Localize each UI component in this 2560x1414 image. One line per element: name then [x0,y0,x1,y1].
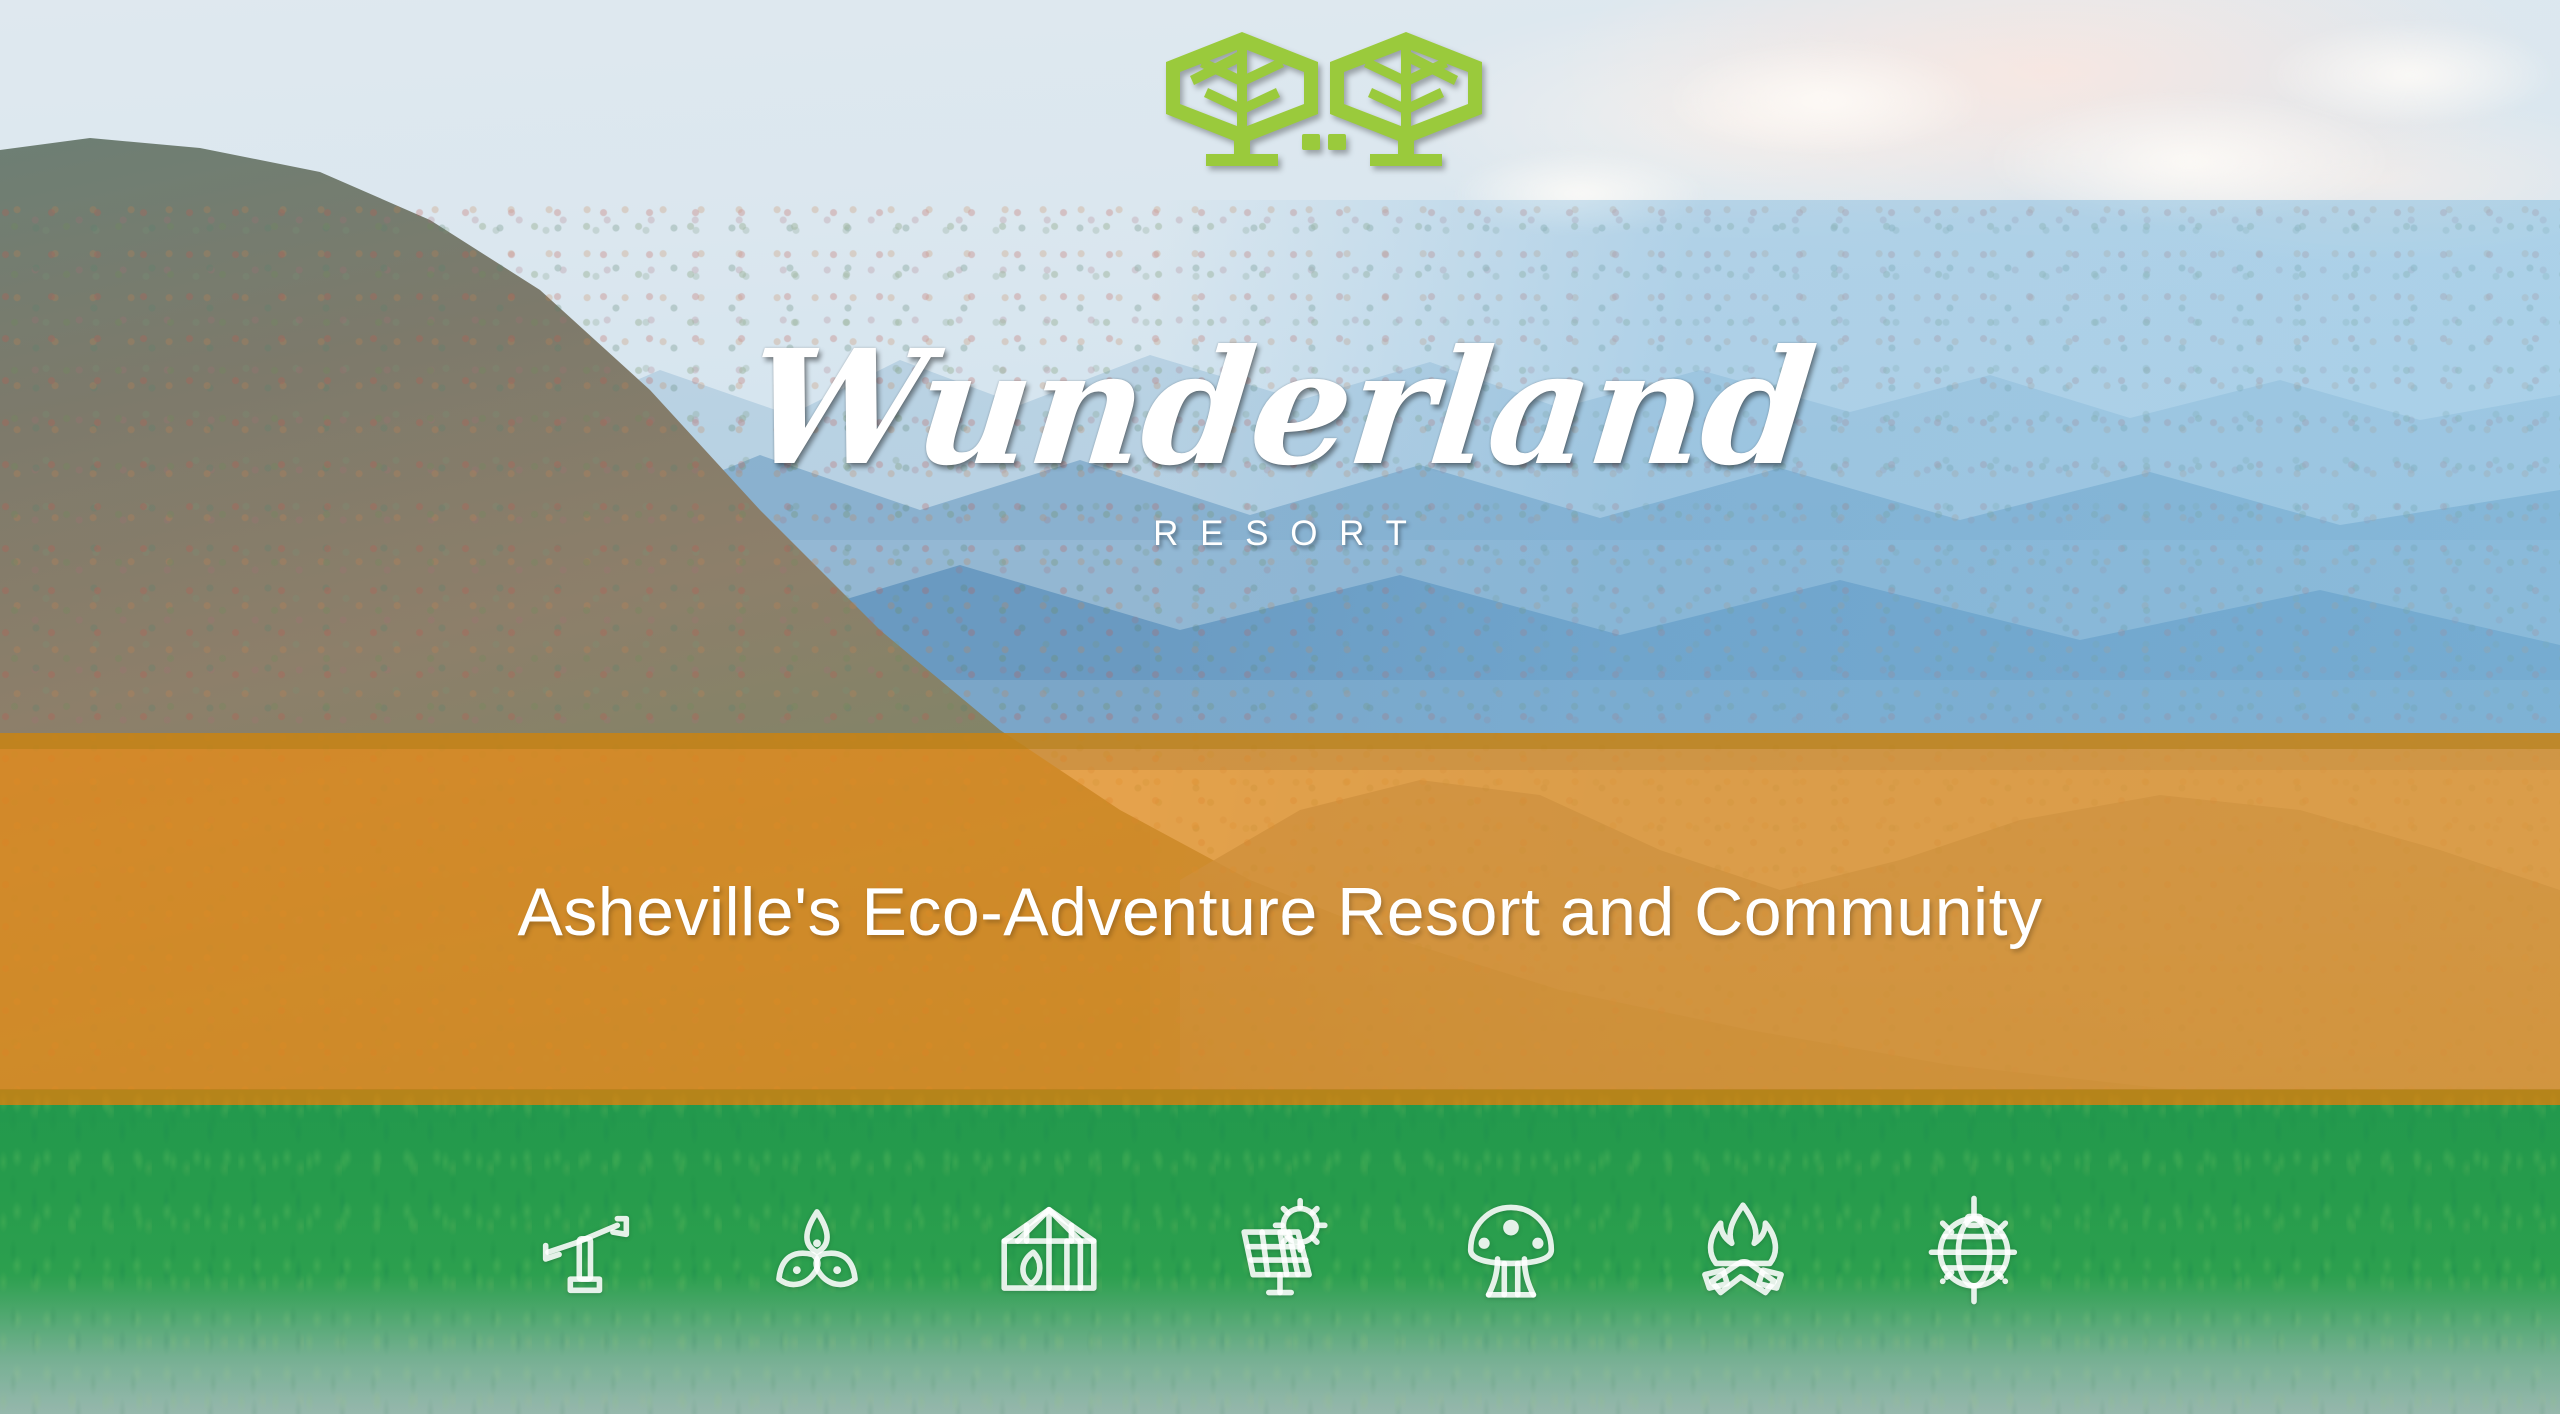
orange-band-top-edge [0,733,2560,749]
trefoil-leaf-icon[interactable] [761,1194,873,1306]
campfire-icon[interactable] [1687,1194,1799,1306]
brand-name-script: Wunderland [0,330,2560,488]
seesaw-icon[interactable] [530,1194,642,1306]
hero-banner: Wunderland RESORT Asheville's Eco-Advent… [0,0,2560,1414]
brand-wordmark: Wunderland RESORT [0,330,2560,554]
double-tree-hexagon-logo[interactable] [1160,18,1488,170]
globe-grid-icon[interactable] [1918,1194,2030,1306]
greenhouse-icon[interactable] [993,1194,1105,1306]
brand-name-sub: RESORT [0,514,2560,554]
orange-band-bottom-edge [0,1089,2560,1105]
feature-icon-strip [530,1190,2030,1310]
hero-tagline: Asheville's Eco-Adventure Resort and Com… [0,878,2560,946]
mushroom-icon[interactable] [1455,1194,1567,1306]
solar-panel-icon[interactable] [1224,1194,1336,1306]
